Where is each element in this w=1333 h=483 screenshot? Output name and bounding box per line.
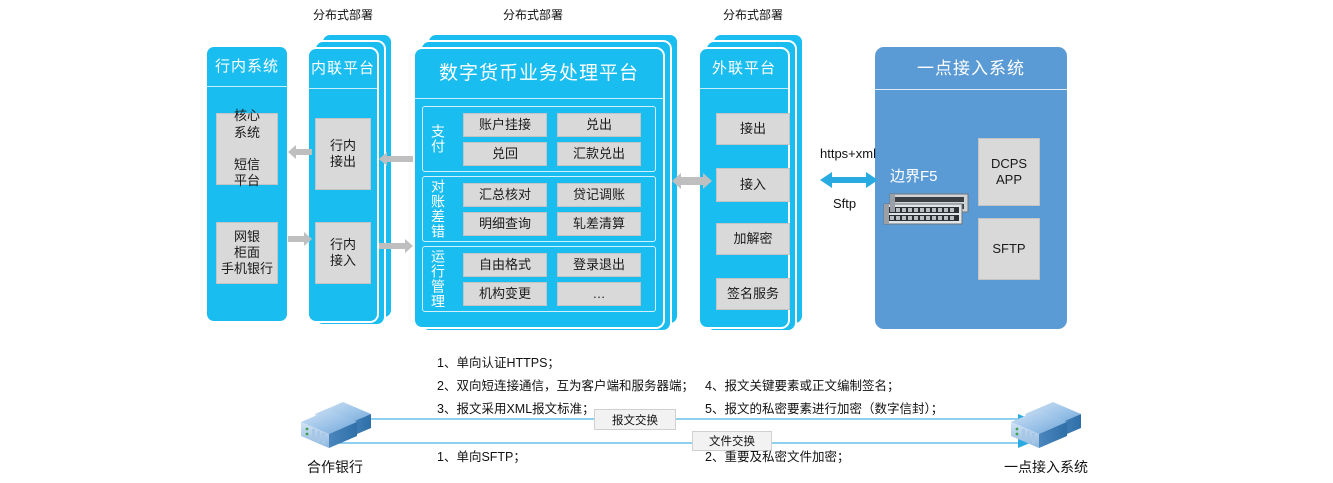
arrow-dcep-to-intranet-icon [379, 152, 413, 166]
box-free-format[interactable]: 自由格式 [463, 253, 547, 277]
box-remittance-out[interactable]: 汇款兑出 [557, 142, 641, 166]
protocol-label-https-xml: https+xml [820, 146, 876, 161]
arrow-ebank-to-intranet-icon [288, 232, 312, 246]
box-org-change[interactable]: 机构变更 [463, 282, 547, 306]
box-encrypt-decrypt[interactable]: 加解密 [716, 223, 790, 255]
single-access-server-icon [1005, 400, 1085, 452]
note-left-2: 2、双向短连接通信，互为客户端和服务器端； [437, 375, 694, 394]
top-label-external: 分布式部署 [723, 6, 783, 23]
box-netting-settlement[interactable]: 轧差清算 [557, 212, 641, 236]
box-signature-service[interactable]: 签名服务 [716, 278, 790, 310]
arrow-external-access-bidirectional-icon [820, 170, 878, 190]
box-ext-outbound[interactable]: 接出 [716, 113, 790, 145]
panel-bank-internal-title: 行内系统 [207, 47, 287, 87]
box-ebank-counter-mobile[interactable]: 网银 柜面 手机银行 [216, 222, 278, 284]
box-sftp[interactable]: SFTP [978, 218, 1040, 280]
box-account-link[interactable]: 账户挂接 [463, 113, 547, 137]
note-right-4: 4、报文关键要素或正文编制签名； [705, 375, 899, 394]
box-core-system[interactable]: 核心 系统 短信 平台 [216, 113, 278, 185]
partner-bank-label: 合作银行 [295, 457, 375, 477]
box-redeem-back[interactable]: 兑回 [463, 142, 547, 166]
box-ext-inbound[interactable]: 接入 [716, 168, 790, 202]
top-label-dcep: 分布式部署 [503, 6, 563, 23]
border-f5-label: 边界F5 [890, 165, 938, 186]
note-sftp-right: 2、重要及私密文件加密； [705, 446, 849, 465]
group-payment-label: 支付 [426, 110, 450, 168]
box-detail-query[interactable]: 明细查询 [463, 212, 547, 236]
panel-dcep-platform-title: 数字货币业务处理平台 [415, 49, 663, 99]
diagram-canvas: 分布式部署 分布式部署 分布式部署 行内系统 核心 系统 短信 平台 网银 柜面… [0, 0, 1333, 483]
group-reconciliation-label: 对账差错 [426, 179, 450, 239]
panel-single-access-system-title: 一点接入系统 [875, 47, 1067, 90]
arrow-dcep-external-bidirectional-icon [672, 172, 712, 190]
panel-intranet-platform-title: 内联平台 [309, 49, 377, 89]
single-access-server-label: 一点接入系统 [1000, 457, 1092, 477]
f5-switch-icon [880, 192, 972, 232]
box-credit-adjust[interactable]: 贷记调账 [557, 183, 641, 207]
box-more[interactable]: … [557, 282, 641, 306]
arrow-core-from-intranet-icon [288, 145, 312, 159]
exchange-label-message: 报文交换 [594, 409, 676, 430]
panel-external-platform-title: 外联平台 [700, 49, 788, 89]
group-operation-management-label: 运行管理 [426, 249, 450, 309]
message-exchange-line [330, 413, 1030, 425]
arrow-intranet-to-dcep-icon [379, 239, 413, 253]
note-left-1: 1、单向认证HTTPS； [437, 352, 560, 371]
box-login-logout[interactable]: 登录退出 [557, 253, 641, 277]
partner-bank-server-icon [295, 400, 375, 452]
box-intranet-outbound[interactable]: 行内 接出 [315, 118, 371, 190]
protocol-label-sftp: Sftp [833, 196, 856, 211]
box-intranet-inbound[interactable]: 行内 接入 [315, 222, 371, 284]
box-summary-check[interactable]: 汇总核对 [463, 183, 547, 207]
top-label-intranet: 分布式部署 [313, 6, 373, 23]
file-exchange-line [330, 437, 1030, 449]
note-sftp-left: 1、单向SFTP； [437, 446, 526, 465]
box-dcps-app[interactable]: DCPS APP [978, 138, 1040, 206]
box-redeem-out[interactable]: 兑出 [557, 113, 641, 137]
